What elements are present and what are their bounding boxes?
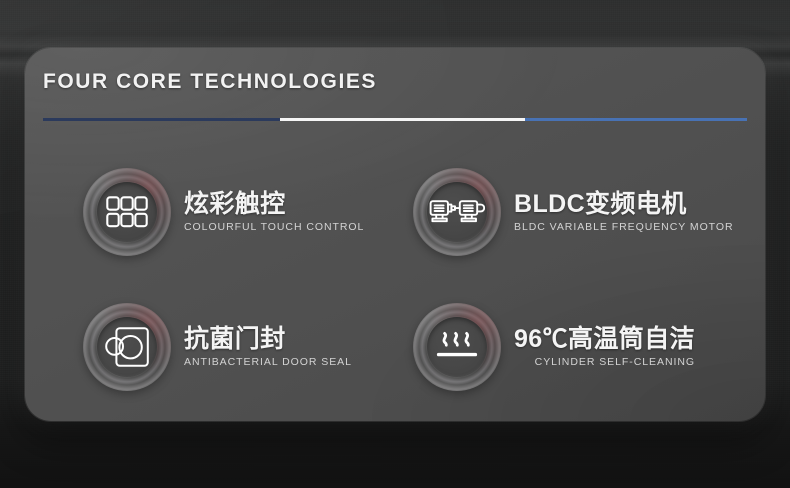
feature-icon-medallion: [413, 168, 501, 256]
feature-item-self-cleaning: 96℃高温筒自洁 CYLINDER SELF-CLEANING: [413, 279, 743, 414]
touch-panel-grid-icon: [83, 168, 171, 256]
feature-item-bldc-motor: BLDC变频电机 BLDC VARIABLE FREQUENCY MOTOR: [413, 144, 743, 279]
feature-icon-medallion: [83, 168, 171, 256]
page-title: FOUR CORE TECHNOLOGIES: [43, 70, 377, 94]
steam-heat-self-clean-icon: [413, 303, 501, 391]
feature-grid: 炫彩触控 COLOURFUL TOUCH CONTROL: [83, 144, 743, 414]
feature-title-en: BLDC VARIABLE FREQUENCY MOTOR: [514, 221, 734, 233]
promo-banner: FOUR CORE TECHNOLOGIES: [0, 0, 790, 488]
feature-title-en: ANTIBACTERIAL DOOR SEAL: [184, 356, 352, 368]
antibacterial-door-seal-icon: [83, 303, 171, 391]
feature-labels: 96℃高温筒自洁 CYLINDER SELF-CLEANING: [514, 325, 695, 368]
feature-item-door-seal: 抗菌门封 ANTIBACTERIAL DOOR SEAL: [83, 279, 413, 414]
feature-labels: 炫彩触控 COLOURFUL TOUCH CONTROL: [184, 190, 364, 233]
feature-item-touch-control: 炫彩触控 COLOURFUL TOUCH CONTROL: [83, 144, 413, 279]
divider-segment-white: [280, 118, 525, 121]
divider-segment-navy: [43, 118, 280, 121]
feature-title-en: CYLINDER SELF-CLEANING: [514, 356, 695, 368]
bldc-motor-icon: [413, 168, 501, 256]
feature-title-cn: 抗菌门封: [184, 325, 352, 353]
feature-title-cn: 炫彩触控: [184, 190, 364, 218]
feature-panel: FOUR CORE TECHNOLOGIES: [25, 48, 765, 421]
divider-segment-blue: [525, 118, 747, 121]
feature-labels: BLDC变频电机 BLDC VARIABLE FREQUENCY MOTOR: [514, 190, 734, 233]
feature-labels: 抗菌门封 ANTIBACTERIAL DOOR SEAL: [184, 325, 352, 368]
feature-title-en: COLOURFUL TOUCH CONTROL: [184, 221, 364, 233]
title-divider: [43, 118, 747, 121]
feature-title-cn: 96℃高温筒自洁: [514, 325, 695, 353]
feature-title-cn: BLDC变频电机: [514, 190, 734, 218]
feature-icon-medallion: [83, 303, 171, 391]
feature-icon-medallion: [413, 303, 501, 391]
